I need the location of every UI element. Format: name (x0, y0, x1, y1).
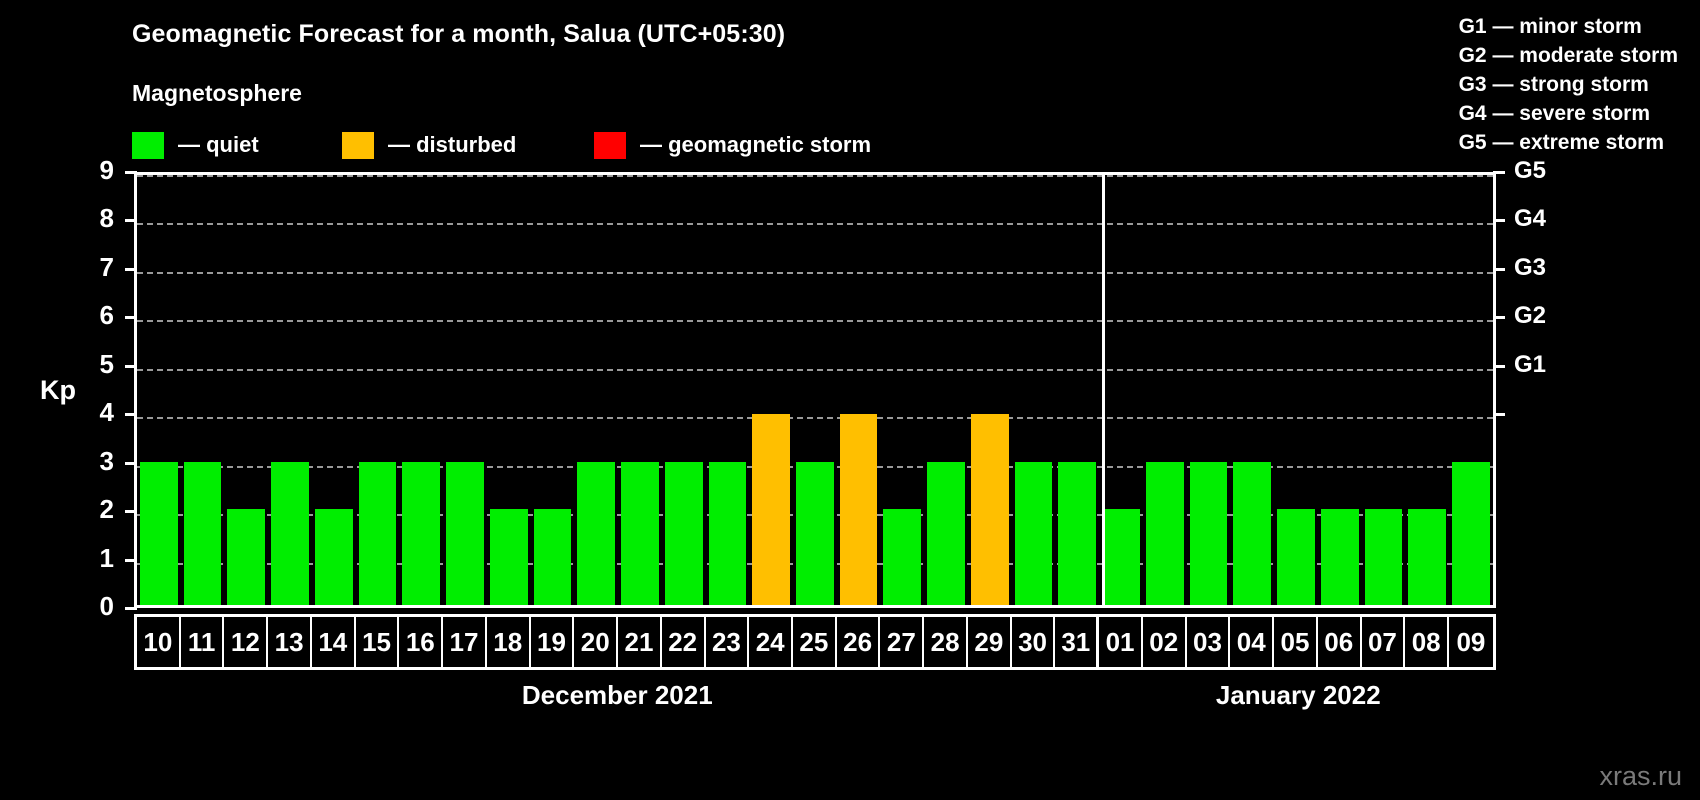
bar-kp-day-27 (883, 509, 921, 605)
bar-slot (1099, 175, 1143, 605)
day-label-25[interactable]: 25 (793, 617, 837, 667)
day-label-17[interactable]: 17 (443, 617, 487, 667)
bar-kp-day-29 (971, 414, 1009, 605)
bar-slot (399, 175, 443, 605)
bar-slot (356, 175, 400, 605)
bar-kp-day-11 (184, 462, 222, 605)
bar-slot (1012, 175, 1056, 605)
bar-kp-day-19 (534, 509, 572, 605)
day-label-06[interactable]: 06 (1318, 617, 1362, 667)
bar-kp-day-25 (796, 462, 834, 605)
day-label-10[interactable]: 10 (137, 617, 181, 667)
plot-area (134, 172, 1496, 608)
day-label-13[interactable]: 13 (268, 617, 312, 667)
bar-kp-day-02 (1146, 462, 1184, 605)
day-label-29[interactable]: 29 (968, 617, 1012, 667)
legend-item-quiet: — quiet (132, 130, 259, 160)
day-label-07[interactable]: 07 (1362, 617, 1406, 667)
bar-slot (443, 175, 487, 605)
day-label-08[interactable]: 08 (1405, 617, 1449, 667)
day-label-20[interactable]: 20 (574, 617, 618, 667)
bar-slot (268, 175, 312, 605)
bar-series (137, 175, 1493, 605)
page-title: Geomagnetic Forecast for a month, Salua … (132, 20, 785, 49)
bar-kp-day-31 (1058, 462, 1096, 605)
day-label-04[interactable]: 04 (1230, 617, 1274, 667)
day-label-03[interactable]: 03 (1187, 617, 1231, 667)
section-label-magnetosphere: Magnetosphere (132, 80, 302, 107)
bar-slot (706, 175, 750, 605)
bar-slot (487, 175, 531, 605)
bar-kp-day-08 (1408, 509, 1446, 605)
bar-kp-day-09 (1452, 462, 1490, 605)
bar-slot (793, 175, 837, 605)
bar-kp-day-28 (927, 462, 965, 605)
g-tick-label-G3: G3 (1514, 254, 1574, 282)
bar-kp-day-21 (621, 462, 659, 605)
bar-kp-day-26 (840, 414, 878, 605)
bar-slot (181, 175, 225, 605)
y-tick-label-5: 5 (74, 349, 114, 380)
bar-slot (312, 175, 356, 605)
bar-slot (1362, 175, 1406, 605)
gscale-row-3: G3 — strong storm (1459, 70, 1678, 99)
day-label-05[interactable]: 05 (1274, 617, 1318, 667)
bar-slot (837, 175, 881, 605)
day-label-09[interactable]: 09 (1449, 617, 1493, 667)
bar-slot (1230, 175, 1274, 605)
day-label-30[interactable]: 30 (1012, 617, 1056, 667)
bar-slot (1143, 175, 1187, 605)
y-tick-label-7: 7 (74, 252, 114, 283)
bar-slot (924, 175, 968, 605)
day-label-26[interactable]: 26 (837, 617, 881, 667)
day-label-16[interactable]: 16 (399, 617, 443, 667)
day-label-31[interactable]: 31 (1055, 617, 1099, 667)
month-caption-2: January 2022 (1148, 680, 1448, 711)
bar-kp-day-30 (1015, 462, 1053, 605)
bar-slot (1274, 175, 1318, 605)
y-tick-label-0: 0 (74, 591, 114, 622)
legend-swatch-disturbed-icon (342, 132, 374, 159)
month-separator-line (1102, 175, 1105, 605)
y-tick-label-4: 4 (74, 397, 114, 428)
bar-slot (224, 175, 268, 605)
bar-slot (531, 175, 575, 605)
day-label-21[interactable]: 21 (618, 617, 662, 667)
legend-label-geomagnetic-storm: — geomagnetic storm (640, 132, 871, 158)
y-tick-label-1: 1 (74, 543, 114, 574)
day-label-24[interactable]: 24 (749, 617, 793, 667)
day-label-28[interactable]: 28 (924, 617, 968, 667)
bar-kp-day-13 (271, 462, 309, 605)
bar-kp-day-18 (490, 509, 528, 605)
g-tick-label-G4: G4 (1514, 205, 1574, 233)
day-label-01[interactable]: 01 (1099, 617, 1143, 667)
legend-swatch-quiet-icon (132, 132, 164, 159)
bar-kp-day-24 (752, 414, 790, 605)
bar-slot (574, 175, 618, 605)
y-axis-title: Kp (40, 375, 76, 406)
day-label-14[interactable]: 14 (312, 617, 356, 667)
bar-kp-day-01 (1102, 509, 1140, 605)
bar-slot (137, 175, 181, 605)
bar-kp-day-04 (1233, 462, 1271, 605)
bar-slot (1055, 175, 1099, 605)
bar-slot (880, 175, 924, 605)
legend-label-disturbed: — disturbed (388, 132, 516, 158)
bar-kp-day-03 (1190, 462, 1228, 605)
day-label-02[interactable]: 02 (1143, 617, 1187, 667)
legend-item-geomagnetic-storm: — geomagnetic storm (594, 130, 871, 160)
gscale-row-1: G1 — minor storm (1459, 12, 1678, 41)
bar-kp-day-06 (1321, 509, 1359, 605)
g-tick-label-G1: G1 (1514, 351, 1574, 379)
day-label-19[interactable]: 19 (531, 617, 575, 667)
day-label-12[interactable]: 12 (224, 617, 268, 667)
legend-item-disturbed: — disturbed (342, 130, 516, 160)
g-tick-label-G2: G2 (1514, 302, 1574, 330)
bar-kp-day-17 (446, 462, 484, 605)
day-label-27[interactable]: 27 (880, 617, 924, 667)
bar-slot (749, 175, 793, 605)
bar-kp-day-23 (709, 462, 747, 605)
y-tick-label-2: 2 (74, 494, 114, 525)
bar-slot (662, 175, 706, 605)
y-tick-label-9: 9 (74, 155, 114, 186)
bar-slot (1449, 175, 1493, 605)
bar-slot (1187, 175, 1231, 605)
chart-root: Geomagnetic Forecast for a month, Salua … (0, 0, 1700, 800)
gscale-legend: G1 — minor stormG2 — moderate stormG3 — … (1459, 12, 1678, 157)
y-tick-label-8: 8 (74, 203, 114, 234)
bar-kp-day-20 (577, 462, 615, 605)
day-label-18[interactable]: 18 (487, 617, 531, 667)
gscale-row-2: G2 — moderate storm (1459, 41, 1678, 70)
bar-slot (968, 175, 1012, 605)
gscale-row-5: G5 — extreme storm (1459, 128, 1678, 157)
bar-kp-day-12 (227, 509, 265, 605)
watermark: xras.ru (1599, 761, 1682, 792)
bar-slot (1318, 175, 1362, 605)
day-label-11[interactable]: 11 (181, 617, 225, 667)
bar-kp-day-15 (359, 462, 397, 605)
bar-kp-day-05 (1277, 509, 1315, 605)
gscale-row-4: G4 — severe storm (1459, 99, 1678, 128)
bar-kp-day-14 (315, 509, 353, 605)
month-caption-1: December 2021 (467, 680, 767, 711)
y-tick-label-6: 6 (74, 300, 114, 331)
bar-slot (1405, 175, 1449, 605)
day-label-23[interactable]: 23 (706, 617, 750, 667)
legend-swatch-geomagnetic-storm-icon (594, 132, 626, 159)
y-tick-label-3: 3 (74, 446, 114, 477)
bar-kp-day-22 (665, 462, 703, 605)
day-label-15[interactable]: 15 (356, 617, 400, 667)
bar-kp-day-07 (1365, 509, 1403, 605)
bar-slot (618, 175, 662, 605)
day-label-22[interactable]: 22 (662, 617, 706, 667)
bar-kp-day-10 (140, 462, 178, 605)
day-axis: 1011121314151617181920212223242526272829… (134, 614, 1496, 670)
bar-kp-day-16 (402, 462, 440, 605)
g-tick-label-G5: G5 (1514, 157, 1574, 185)
legend-label-quiet: — quiet (178, 132, 259, 158)
